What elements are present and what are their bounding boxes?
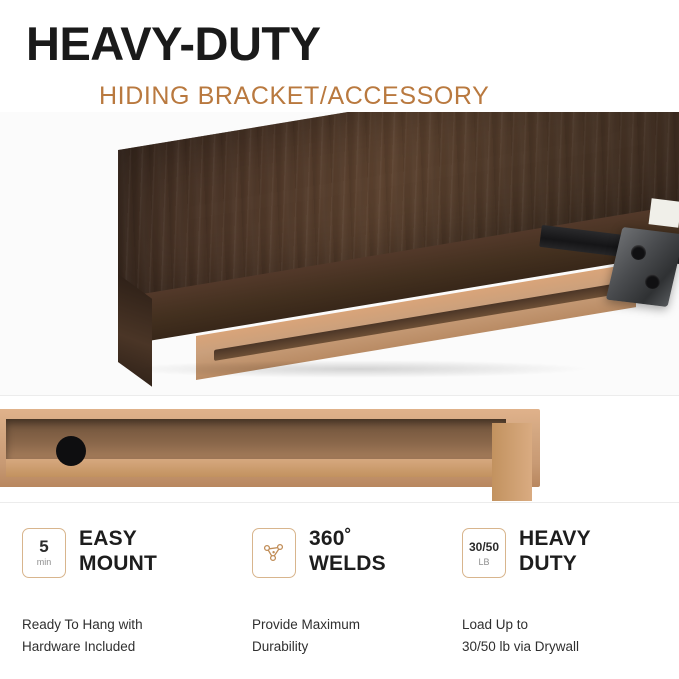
feature-title-line2: MOUNT	[79, 551, 157, 576]
feature-title-line1: 360˚	[309, 526, 386, 551]
feature-description-line1: Load Up to	[462, 614, 667, 636]
feature-title: 360˚ WELDS	[309, 526, 386, 576]
core-right-end	[492, 423, 532, 501]
bracket-highlight-tab	[649, 198, 679, 227]
feature-description-line2: 30/50 lb via Drywall	[462, 636, 667, 658]
badge-value: 30/50	[469, 538, 499, 556]
feature-title-line1: HEAVY	[519, 526, 591, 551]
feature-description: Load Up to 30/50 lb via Drywall	[462, 614, 667, 658]
weld-nodes-glyph	[261, 540, 287, 566]
feature-description-line1: Ready To Hang with	[22, 614, 227, 636]
feature-heavy-duty: 30/50 LB HEAVY DUTY Load Up to 30/50 lb …	[462, 528, 674, 668]
bracket-screw-hole	[645, 274, 660, 289]
feature-list: 5 min EASY MOUNT Ready To Hang with Hard…	[0, 512, 679, 679]
feature-description-line2: Hardware Included	[22, 636, 227, 658]
hero-product-image	[0, 112, 679, 395]
weight-badge-icon: 30/50 LB	[462, 528, 506, 578]
feature-easy-mount: 5 min EASY MOUNT Ready To Hang with Hard…	[22, 528, 234, 668]
feature-header: 5 min EASY MOUNT	[22, 528, 234, 584]
page-title: HEAVY-DUTY	[26, 18, 320, 70]
badge-value: 5	[39, 538, 48, 556]
core-mounting-hole	[56, 436, 86, 466]
badge-unit: LB	[478, 557, 489, 568]
timer-badge-icon: 5 min	[22, 528, 66, 578]
feature-header: 30/50 LB HEAVY DUTY	[462, 528, 674, 584]
feature-title: EASY MOUNT	[79, 526, 157, 576]
feature-title-line2: DUTY	[519, 551, 591, 576]
feature-title-line2: WELDS	[309, 551, 386, 576]
feature-title-line1: EASY	[79, 526, 157, 551]
feature-description: Ready To Hang with Hardware Included	[22, 614, 227, 658]
feature-title: HEAVY DUTY	[519, 526, 591, 576]
shelf-core-strip	[0, 409, 540, 487]
feature-header: 360˚ WELDS	[252, 528, 464, 584]
floating-shelf	[118, 150, 679, 380]
shelf-drop-shadow	[116, 360, 594, 378]
badge-unit: min	[37, 557, 52, 568]
feature-360-welds: 360˚ WELDS Provide Maximum Durability	[252, 528, 464, 668]
bracket-screw-hole	[631, 245, 646, 260]
feature-description-line1: Provide Maximum	[252, 614, 457, 636]
product-infographic: HEAVY-DUTY HIDING BRACKET/ACCESSORY	[0, 0, 679, 679]
feature-description-line2: Durability	[252, 636, 457, 658]
page-subtitle: HIDING BRACKET/ACCESSORY	[99, 82, 489, 110]
header: HEAVY-DUTY HIDING BRACKET/ACCESSORY	[0, 0, 679, 130]
weld-nodes-icon	[252, 528, 296, 578]
feature-description: Provide Maximum Durability	[252, 614, 457, 658]
divider-top	[0, 395, 679, 396]
divider-bottom	[0, 502, 679, 503]
core-cutaway-image	[0, 395, 679, 503]
